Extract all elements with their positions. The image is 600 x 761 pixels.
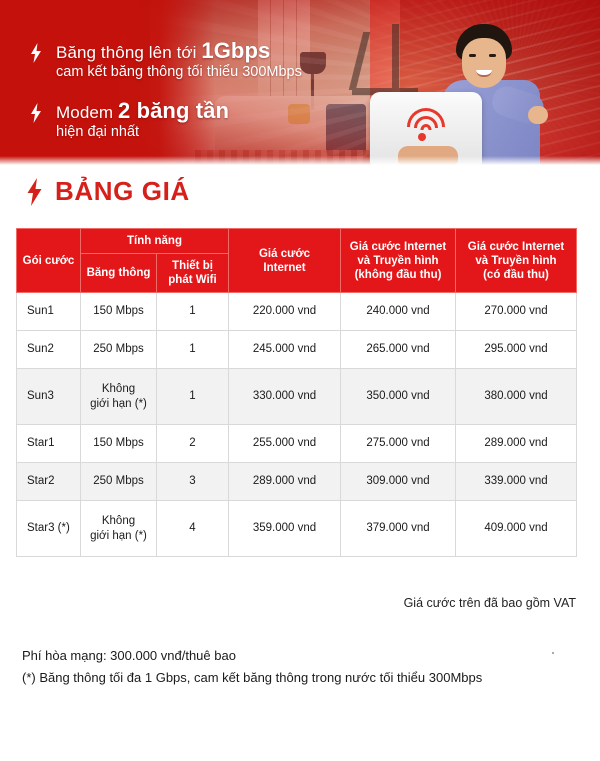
cell-bandwidth: 250 Mbps <box>81 331 157 369</box>
cell-bandwidth: Không giới hạn (*) <box>81 501 157 557</box>
page-speck <box>552 652 554 654</box>
cell-combo-with-box: 289.000 vnd <box>456 425 577 463</box>
cell-combo-with-box: 295.000 vnd <box>456 331 577 369</box>
table-row: Sun3 Không giới hạn (*) 1 330.000 vnd 35… <box>17 369 577 425</box>
banner-bullet-2-line1: Modem 2 băng tần <box>56 100 356 123</box>
col-header-combo-with-box-line2: và Truyền hình <box>459 254 573 268</box>
cell-combo-no-box: 309.000 vnd <box>341 463 456 501</box>
cell-wifi-device: 3 <box>157 463 229 501</box>
cell-bandwidth: Không giới hạn (*) <box>81 369 157 425</box>
price-table: Gói cước Tính năng Giá cước Internet Giá… <box>16 228 577 557</box>
bolt-icon <box>30 103 42 123</box>
col-header-combo-no-box: Giá cước Internet và Truyền hình (không … <box>341 229 456 293</box>
banner-bullet-1-line1: Băng thông lên tới 1Gbps <box>56 40 356 63</box>
wifi-icon <box>405 108 447 142</box>
page-title-text: BẢNG GIÁ <box>55 176 190 207</box>
hero-banner: Băng thông lên tới 1Gbps cam kết băng th… <box>0 0 600 166</box>
table-row: Sun2 250 Mbps 1 245.000 vnd 265.000 vnd … <box>17 331 577 369</box>
page-title: BẢNG GIÁ <box>26 176 190 207</box>
cell-bandwidth: 150 Mbps <box>81 425 157 463</box>
banner-bullet-2-prefix: Modem <box>56 103 118 122</box>
cell-package: Sun3 <box>17 369 81 425</box>
cell-package: Sun1 <box>17 293 81 331</box>
cell-package: Star1 <box>17 425 81 463</box>
cell-package: Star2 <box>17 463 81 501</box>
banner-copy-block: Băng thông lên tới 1Gbps cam kết băng th… <box>26 40 356 160</box>
banner-bullet-1-line2: cam kết băng thông tối thiểu 300Mbps <box>56 63 356 82</box>
col-header-internet-price-line2: Internet <box>232 261 337 275</box>
cell-internet-price: 289.000 vnd <box>229 463 341 501</box>
cell-internet-price: 359.000 vnd <box>229 501 341 557</box>
col-header-package: Gói cước <box>17 229 81 293</box>
cell-combo-no-box: 275.000 vnd <box>341 425 456 463</box>
cell-bandwidth-line2: giới hạn (*) <box>85 397 152 412</box>
banner-bullet-2: Modem 2 băng tần hiện đại nhất <box>26 100 356 142</box>
col-header-wifi-device: Thiết bị phát Wifi <box>157 254 229 293</box>
banner-bullet-1: Băng thông lên tới 1Gbps cam kết băng th… <box>26 40 356 82</box>
price-table-header: Gói cước Tính năng Giá cước Internet Giá… <box>17 229 577 293</box>
cell-wifi-device: 1 <box>157 293 229 331</box>
cell-internet-price: 220.000 vnd <box>229 293 341 331</box>
table-row: Sun1 150 Mbps 1 220.000 vnd 240.000 vnd … <box>17 293 577 331</box>
table-row: Star1 150 Mbps 2 255.000 vnd 275.000 vnd… <box>17 425 577 463</box>
cell-bandwidth-line1: Không <box>85 382 152 397</box>
table-row: Star3 (*) Không giới hạn (*) 4 359.000 v… <box>17 501 577 557</box>
cell-internet-price: 255.000 vnd <box>229 425 341 463</box>
cell-combo-with-box: 270.000 vnd <box>456 293 577 331</box>
cell-wifi-device: 2 <box>157 425 229 463</box>
col-header-wifi-device-line1: Thiết bị <box>160 259 225 273</box>
col-header-features-group: Tính năng <box>81 229 229 254</box>
price-table-body: Sun1 150 Mbps 1 220.000 vnd 240.000 vnd … <box>17 293 577 557</box>
col-header-combo-no-box-line2: và Truyền hình <box>344 254 452 268</box>
cell-internet-price: 245.000 vnd <box>229 331 341 369</box>
cell-bandwidth: 150 Mbps <box>81 293 157 331</box>
banner-bullet-2-line2: hiện đại nhất <box>56 123 356 142</box>
cell-bandwidth-line1: Không <box>85 514 152 529</box>
banner-bullet-1-highlight: 1Gbps <box>201 38 270 63</box>
bolt-icon <box>26 178 43 206</box>
cell-wifi-device: 4 <box>157 501 229 557</box>
cell-package: Sun2 <box>17 331 81 369</box>
col-header-combo-no-box-line3: (không đầu thu) <box>344 268 452 282</box>
cell-combo-with-box: 409.000 vnd <box>456 501 577 557</box>
col-header-combo-with-box-line1: Giá cước Internet <box>459 240 573 254</box>
bolt-icon <box>30 43 42 63</box>
cell-wifi-device: 1 <box>157 331 229 369</box>
col-header-internet-price-line1: Giá cước <box>232 247 337 261</box>
cell-combo-with-box: 380.000 vnd <box>456 369 577 425</box>
footer-notes: Phí hòa mạng: 300.000 vnđ/thuê bao (*) B… <box>22 645 482 689</box>
cell-internet-price: 330.000 vnd <box>229 369 341 425</box>
col-header-bandwidth: Băng thông <box>81 254 157 293</box>
cell-combo-no-box: 240.000 vnd <box>341 293 456 331</box>
cell-bandwidth: 250 Mbps <box>81 463 157 501</box>
cell-package: Star3 (*) <box>17 501 81 557</box>
cell-wifi-device: 1 <box>157 369 229 425</box>
col-header-combo-with-box: Giá cước Internet và Truyền hình (có đầu… <box>456 229 577 293</box>
cell-combo-no-box: 265.000 vnd <box>341 331 456 369</box>
footer-note-bandwidth-asterisk: (*) Băng thông tối đa 1 Gbps, cam kết bă… <box>22 667 482 689</box>
col-header-combo-with-box-line3: (có đầu thu) <box>459 268 573 282</box>
col-header-wifi-device-line2: phát Wifi <box>160 273 225 287</box>
footer-note-install-fee: Phí hòa mạng: 300.000 vnđ/thuê bao <box>22 645 482 667</box>
cell-combo-no-box: 379.000 vnd <box>341 501 456 557</box>
cell-combo-no-box: 350.000 vnd <box>341 369 456 425</box>
vat-note: Giá cước trên đã bao gồm VAT <box>404 596 576 610</box>
cell-combo-with-box: 339.000 vnd <box>456 463 577 501</box>
table-row: Star2 250 Mbps 3 289.000 vnd 309.000 vnd… <box>17 463 577 501</box>
col-header-combo-no-box-line1: Giá cước Internet <box>344 240 452 254</box>
table-header-row-1: Gói cước Tính năng Giá cước Internet Giá… <box>17 229 577 254</box>
banner-bullet-1-prefix: Băng thông lên tới <box>56 43 201 62</box>
banner-bullet-2-highlight: 2 băng tần <box>118 98 229 123</box>
col-header-internet-price: Giá cước Internet <box>229 229 341 293</box>
cell-bandwidth-line2: giới hạn (*) <box>85 529 152 544</box>
